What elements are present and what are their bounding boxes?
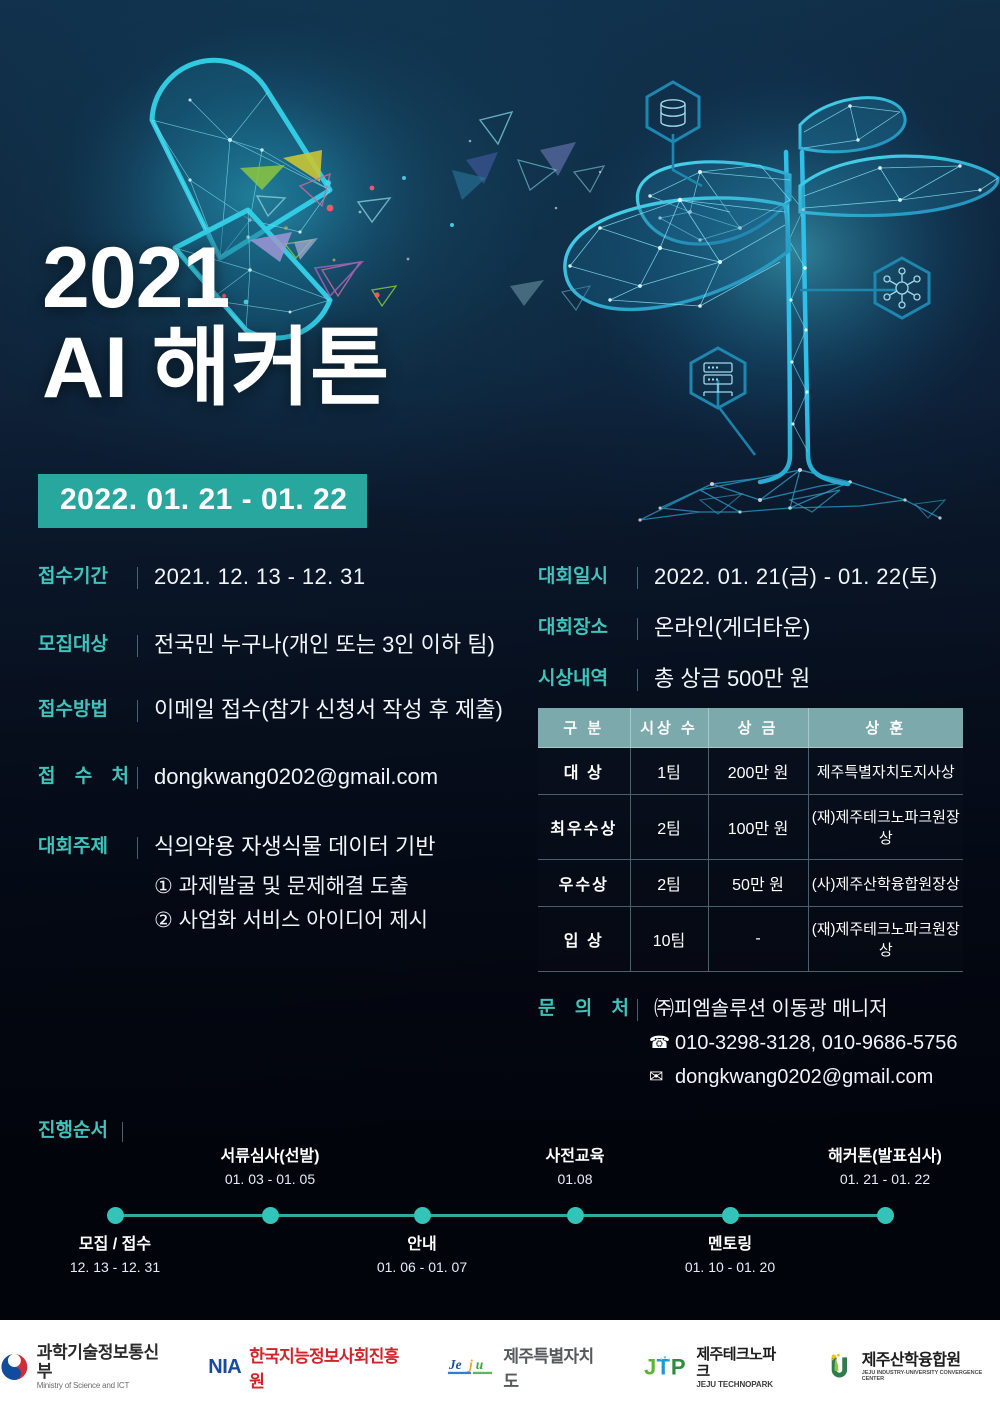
cell-category: 우수상 bbox=[538, 860, 630, 907]
svg-text:T: T bbox=[657, 1355, 671, 1380]
jeju-wordmark-icon: Je j u bbox=[446, 1354, 496, 1380]
logo-mark: NIA bbox=[208, 1356, 241, 1379]
svg-text:u: u bbox=[475, 1357, 483, 1372]
table-row: 최우수상 2팀 100만 원 (재)제주테크노파크원장상 bbox=[538, 795, 963, 860]
logo-jeju-special-province: Je j u 제주특별자치도 bbox=[446, 1342, 605, 1392]
timeline-node bbox=[567, 1207, 584, 1224]
cell-count: 10팀 bbox=[630, 907, 708, 972]
cell-award: 제주특별자치도지사상 bbox=[808, 748, 963, 795]
cell-count: 1팀 bbox=[630, 748, 708, 795]
right-info-column: 대회일시 2022. 01. 21(금) - 01. 22(토) 대회장소 온라… bbox=[538, 562, 986, 1094]
headline-year: 2021 bbox=[42, 238, 389, 319]
label-divider bbox=[137, 635, 138, 657]
timeline-date: 01. 06 - 01. 07 bbox=[302, 1257, 542, 1277]
timeline-track bbox=[115, 1214, 885, 1217]
phone-icon: ☎ bbox=[649, 1026, 675, 1060]
timeline-caption: 해커톤(발표심사) 01. 21 - 01. 22 bbox=[765, 1146, 1000, 1189]
info-row-event-datetime: 대회일시 2022. 01. 21(금) - 01. 22(토) bbox=[538, 562, 986, 592]
contact-phone[interactable]: 010-3298-3128, 010-9686-5756 bbox=[675, 1026, 957, 1060]
info-row-topic: 대회주제 식의약용 자생식물 데이터 기반 ① 과제발굴 및 문제해결 도출 ②… bbox=[38, 832, 508, 938]
cell-category: 대 상 bbox=[538, 748, 630, 795]
contact-row-email: ✉ dongkwang0202@gmail.com bbox=[538, 1060, 986, 1094]
timeline-caption: 안내 01. 06 - 01. 07 bbox=[302, 1234, 542, 1277]
cell-count: 2팀 bbox=[630, 795, 708, 860]
contact-row-phone: ☎ 010-3298-3128, 010-9686-5756 bbox=[538, 1026, 986, 1060]
info-label: 모집대상 bbox=[38, 630, 133, 660]
cell-amount: - bbox=[708, 907, 808, 972]
timeline-section: 진행순서 모집 / 접수 12. 13 - 12. 31 서류심사(선발) 01… bbox=[0, 1118, 1000, 1308]
info-row-prize-summary: 시상내역 총 상금 500만 원 bbox=[538, 664, 986, 694]
logo-subtitle: Ministry of Science and ICT bbox=[37, 1381, 169, 1391]
contact-org: ㈜피엠솔루션 이동광 매니저 bbox=[654, 994, 888, 1024]
th-award: 상 훈 bbox=[808, 708, 963, 748]
topic-line-1: 식의약용 자생식물 데이터 기반 bbox=[154, 832, 435, 862]
info-row-application-address: 접 수 처 dongkwang0202@gmail.com bbox=[38, 762, 508, 792]
svg-text:Je: Je bbox=[447, 1357, 461, 1372]
cell-count: 2팀 bbox=[630, 860, 708, 907]
info-label: 시상내역 bbox=[538, 664, 633, 694]
info-value: 이메일 접수(참가 신청서 작성 후 제출) bbox=[154, 695, 503, 725]
timeline-date: 01.08 bbox=[455, 1169, 695, 1189]
info-label: 접수방법 bbox=[38, 695, 133, 725]
cell-amount: 50만 원 bbox=[708, 860, 808, 907]
cell-amount: 200만 원 bbox=[708, 748, 808, 795]
event-date-badge: 2022. 01. 21 - 01. 22 bbox=[38, 474, 367, 528]
info-label: 접 수 처 bbox=[38, 762, 133, 792]
label-divider bbox=[137, 837, 138, 859]
prize-table: 구 분 시상 수 상 금 상 훈 대 상 1팀 200만 원 제주특별자치도지사… bbox=[538, 708, 963, 972]
logo-title: 제주특별자치도 bbox=[503, 1342, 604, 1392]
info-label: 접수기간 bbox=[38, 562, 133, 592]
email-icon: ✉ bbox=[649, 1060, 675, 1094]
contact-block: 문 의 처 ㈜피엠솔루션 이동광 매니저 ☎ 010-3298-3128, 01… bbox=[538, 994, 986, 1094]
convergence-u-icon bbox=[825, 1352, 854, 1382]
info-value: 총 상금 500만 원 bbox=[654, 664, 810, 694]
info-row-application-method: 접수방법 이메일 접수(참가 신청서 작성 후 제출) bbox=[38, 695, 508, 725]
topic-line-3: ② 사업화 서비스 아이디어 제시 bbox=[154, 904, 435, 938]
timeline-node bbox=[877, 1207, 894, 1224]
footer-logo-bar: 과학기술정보통신부 Ministry of Science and ICT NI… bbox=[0, 1320, 1000, 1414]
table-row: 대 상 1팀 200만 원 제주특별자치도지사상 bbox=[538, 748, 963, 795]
logo-nia: NIA 한국지능정보사회진흥원 bbox=[208, 1342, 405, 1392]
timeline-caption: 서류심사(선발) 01. 03 - 01. 05 bbox=[150, 1146, 390, 1189]
label-divider bbox=[637, 567, 638, 589]
info-row-application-period: 접수기간 2021. 12. 13 - 12. 31 bbox=[38, 562, 508, 592]
timeline-title: 멘토링 bbox=[610, 1234, 850, 1255]
jtp-mark-icon: J T P bbox=[644, 1353, 688, 1381]
timeline-date: 01. 03 - 01. 05 bbox=[150, 1169, 390, 1189]
logo-title: 과학기술정보통신부 bbox=[37, 1343, 169, 1381]
timeline-caption: 사전교육 01.08 bbox=[455, 1146, 695, 1189]
logo-ministry-of-science-ict: 과학기술정보통신부 Ministry of Science and ICT bbox=[0, 1343, 168, 1391]
contact-label: 문 의 처 bbox=[538, 994, 633, 1024]
poster-background: 2021 AI 해커톤 2022. 01. 21 - 01. 22 접수기간 2… bbox=[0, 0, 1000, 1320]
label-divider bbox=[137, 700, 138, 722]
topic-block: 식의약용 자생식물 데이터 기반 ① 과제발굴 및 문제해결 도출 ② 사업화 … bbox=[154, 832, 435, 938]
info-label: 대회장소 bbox=[538, 613, 633, 643]
timeline-date: 01. 21 - 01. 22 bbox=[765, 1169, 1000, 1189]
cell-award: (사)제주산학융합원장상 bbox=[808, 860, 963, 907]
cell-award: (재)제주테크노파크원장상 bbox=[808, 795, 963, 860]
th-category: 구 분 bbox=[538, 708, 630, 748]
th-count: 시상 수 bbox=[630, 708, 708, 748]
headline-title: AI 해커톤 bbox=[42, 323, 389, 414]
logo-jeju-technopark: J T P 제주테크노파크 JEJU TECHNOPARK bbox=[644, 1346, 785, 1389]
svg-text:P: P bbox=[671, 1355, 686, 1380]
label-divider bbox=[122, 1122, 123, 1142]
left-info-column: 접수기간 2021. 12. 13 - 12. 31 모집대상 전국민 누구나(… bbox=[38, 562, 508, 945]
table-header-row: 구 분 시상 수 상 금 상 훈 bbox=[538, 708, 963, 748]
label-divider bbox=[137, 567, 138, 589]
taegeuk-icon bbox=[0, 1352, 29, 1382]
timeline-node bbox=[414, 1207, 431, 1224]
timeline-title: 서류심사(선발) bbox=[150, 1146, 390, 1167]
timeline-date: 12. 13 - 12. 31 bbox=[0, 1257, 235, 1277]
timeline-node bbox=[262, 1207, 279, 1224]
logo-title: 한국지능정보사회진흥원 bbox=[249, 1342, 405, 1392]
table-row: 우수상 2팀 50만 원 (사)제주산학융합원장상 bbox=[538, 860, 963, 907]
logo-subtitle: JEJU INDUSTRY-UNIVERSITY CONVERGENCE CEN… bbox=[862, 1370, 1000, 1382]
contact-email[interactable]: dongkwang0202@gmail.com bbox=[675, 1060, 933, 1094]
cell-category: 최우수상 bbox=[538, 795, 630, 860]
contact-row-org: 문 의 처 ㈜피엠솔루션 이동광 매니저 bbox=[538, 994, 986, 1024]
topic-line-2: ① 과제발굴 및 문제해결 도출 bbox=[154, 870, 435, 904]
svg-text:J: J bbox=[644, 1355, 656, 1380]
label-divider bbox=[637, 618, 638, 640]
info-row-eligibility: 모집대상 전국민 누구나(개인 또는 3인 이하 팀) bbox=[38, 630, 508, 660]
label-divider bbox=[637, 999, 638, 1021]
label-divider bbox=[637, 669, 638, 691]
cell-amount: 100만 원 bbox=[708, 795, 808, 860]
poster-headline: 2021 AI 해커톤 bbox=[42, 238, 389, 414]
info-value: 2022. 01. 21(금) - 01. 22(토) bbox=[654, 562, 938, 592]
timeline-title: 사전교육 bbox=[455, 1146, 695, 1167]
timeline-caption: 멘토링 01. 10 - 01. 20 bbox=[610, 1234, 850, 1277]
timeline-title: 해커톤(발표심사) bbox=[765, 1146, 1000, 1167]
info-value: 온라인(게더타운) bbox=[654, 613, 810, 643]
label-divider bbox=[137, 767, 138, 789]
cell-award: (재)제주테크노파크원장상 bbox=[808, 907, 963, 972]
logo-title: 제주산학융합원 bbox=[862, 1352, 1000, 1370]
prize-table-wrapper: 구 분 시상 수 상 금 상 훈 대 상 1팀 200만 원 제주특별자치도지사… bbox=[538, 708, 986, 972]
info-value: 2021. 12. 13 - 12. 31 bbox=[154, 562, 365, 592]
info-label: 대회일시 bbox=[538, 562, 633, 592]
logo-title: 제주테크노파크 bbox=[696, 1346, 785, 1380]
svg-text:j: j bbox=[467, 1357, 473, 1372]
timeline-title: 모집 / 접수 bbox=[0, 1234, 235, 1255]
timeline-date: 01. 10 - 01. 20 bbox=[610, 1257, 850, 1277]
info-label: 대회주제 bbox=[38, 832, 133, 862]
logo-subtitle: JEJU TECHNOPARK bbox=[696, 1380, 785, 1389]
info-value-email[interactable]: dongkwang0202@gmail.com bbox=[154, 762, 438, 792]
timeline-header: 진행순서 bbox=[38, 1118, 123, 1144]
timeline-node bbox=[722, 1207, 739, 1224]
timeline-caption: 모집 / 접수 12. 13 - 12. 31 bbox=[0, 1234, 235, 1277]
timeline-title: 안내 bbox=[302, 1234, 542, 1255]
info-value: 전국민 누구나(개인 또는 3인 이하 팀) bbox=[154, 630, 495, 660]
cell-category: 입 상 bbox=[538, 907, 630, 972]
info-row-event-venue: 대회장소 온라인(게더타운) bbox=[538, 613, 986, 643]
timeline-label: 진행순서 bbox=[38, 1118, 108, 1144]
logo-jeju-industry-university-convergence: 제주산학융합원 JEJU INDUSTRY-UNIVERSITY CONVERG… bbox=[825, 1352, 1000, 1382]
table-row: 입 상 10팀 - (재)제주테크노파크원장상 bbox=[538, 907, 963, 972]
th-amount: 상 금 bbox=[708, 708, 808, 748]
poster-root: 2021 AI 해커톤 2022. 01. 21 - 01. 22 접수기간 2… bbox=[0, 0, 1000, 1414]
timeline-node bbox=[107, 1207, 124, 1224]
